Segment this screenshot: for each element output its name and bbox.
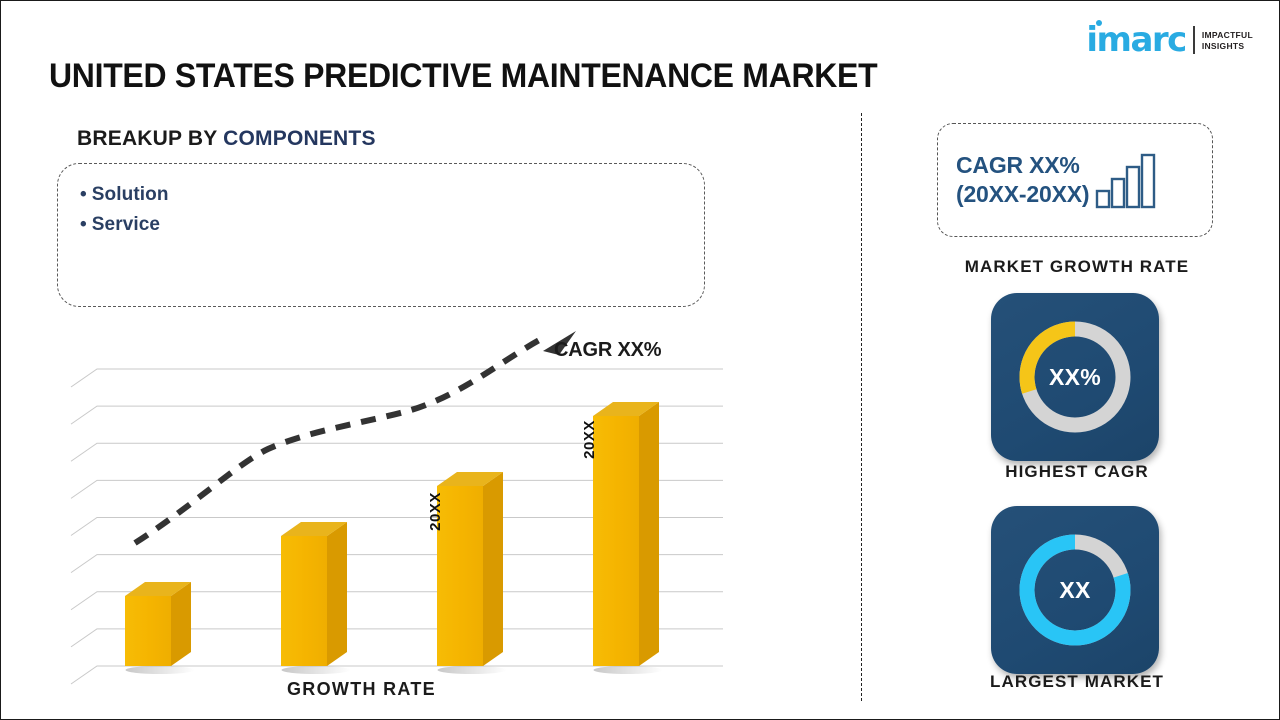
logo-tagline: IMPACTFUL INSIGHTS [1202,30,1253,55]
list-item: •Solution [80,180,704,210]
donut-value: XX% [1014,316,1136,438]
breakup-prefix: BREAKUP BY [77,127,217,150]
donut-chart: XX% [1014,316,1136,438]
bullet-icon: • [80,184,87,205]
components-list-box: •Solution •Service [57,163,705,307]
breakup-highlight: COMPONENTS [223,127,376,150]
bar-label: 20XX [581,420,598,459]
logo-tagline-line1: IMPACTFUL [1202,30,1253,41]
cagr-text: CAGR XX% (20XX-20XX) [956,151,1089,209]
logo-divider [1193,26,1195,54]
list-item-label: Solution [92,184,169,205]
market-growth-rate-box: CAGR XX% (20XX-20XX) [937,123,1213,237]
chart-x-axis-label: GROWTH RATE [287,679,436,700]
list-item-label: Service [92,214,160,235]
bar-label: 20XX [427,492,444,531]
page-title: UNITED STATES PREDICTIVE MAINTENANCE MAR… [49,57,877,96]
logo-wordmark: imarc [1086,25,1185,55]
donut-chart: XX [1014,529,1136,651]
largest-market-caption: LARGEST MARKET [907,672,1247,692]
largest-market-card: XX [991,506,1159,674]
highest-cagr-card: XX% [991,293,1159,461]
cagr-line-2: (20XX-20XX) [956,180,1089,209]
highest-cagr-caption: HIGHEST CAGR [907,462,1247,482]
chart-svg [63,331,763,706]
logo-word-text: imarc [1086,20,1185,60]
list-item: •Service [80,210,704,240]
bullet-icon: • [80,214,87,235]
market-growth-rate-caption: MARKET GROWTH RATE [907,257,1247,277]
breakup-heading: BREAKUP BY COMPONENTS [77,127,376,151]
chart-cagr-annotation: CAGR XX% [554,339,661,362]
cagr-line-1: CAGR XX% [956,151,1089,180]
imarc-logo: imarc IMPACTFUL INSIGHTS [1086,15,1253,55]
trend-arrow [135,331,576,543]
growth-bar-chart: 20XX 20XX [63,331,763,706]
section-divider [861,113,862,701]
ascending-bars-icon [1095,153,1157,214]
donut-value: XX [1014,529,1136,651]
slide-canvas: imarc IMPACTFUL INSIGHTS UNITED STATES P… [0,0,1280,720]
logo-tagline-line2: INSIGHTS [1202,41,1253,52]
